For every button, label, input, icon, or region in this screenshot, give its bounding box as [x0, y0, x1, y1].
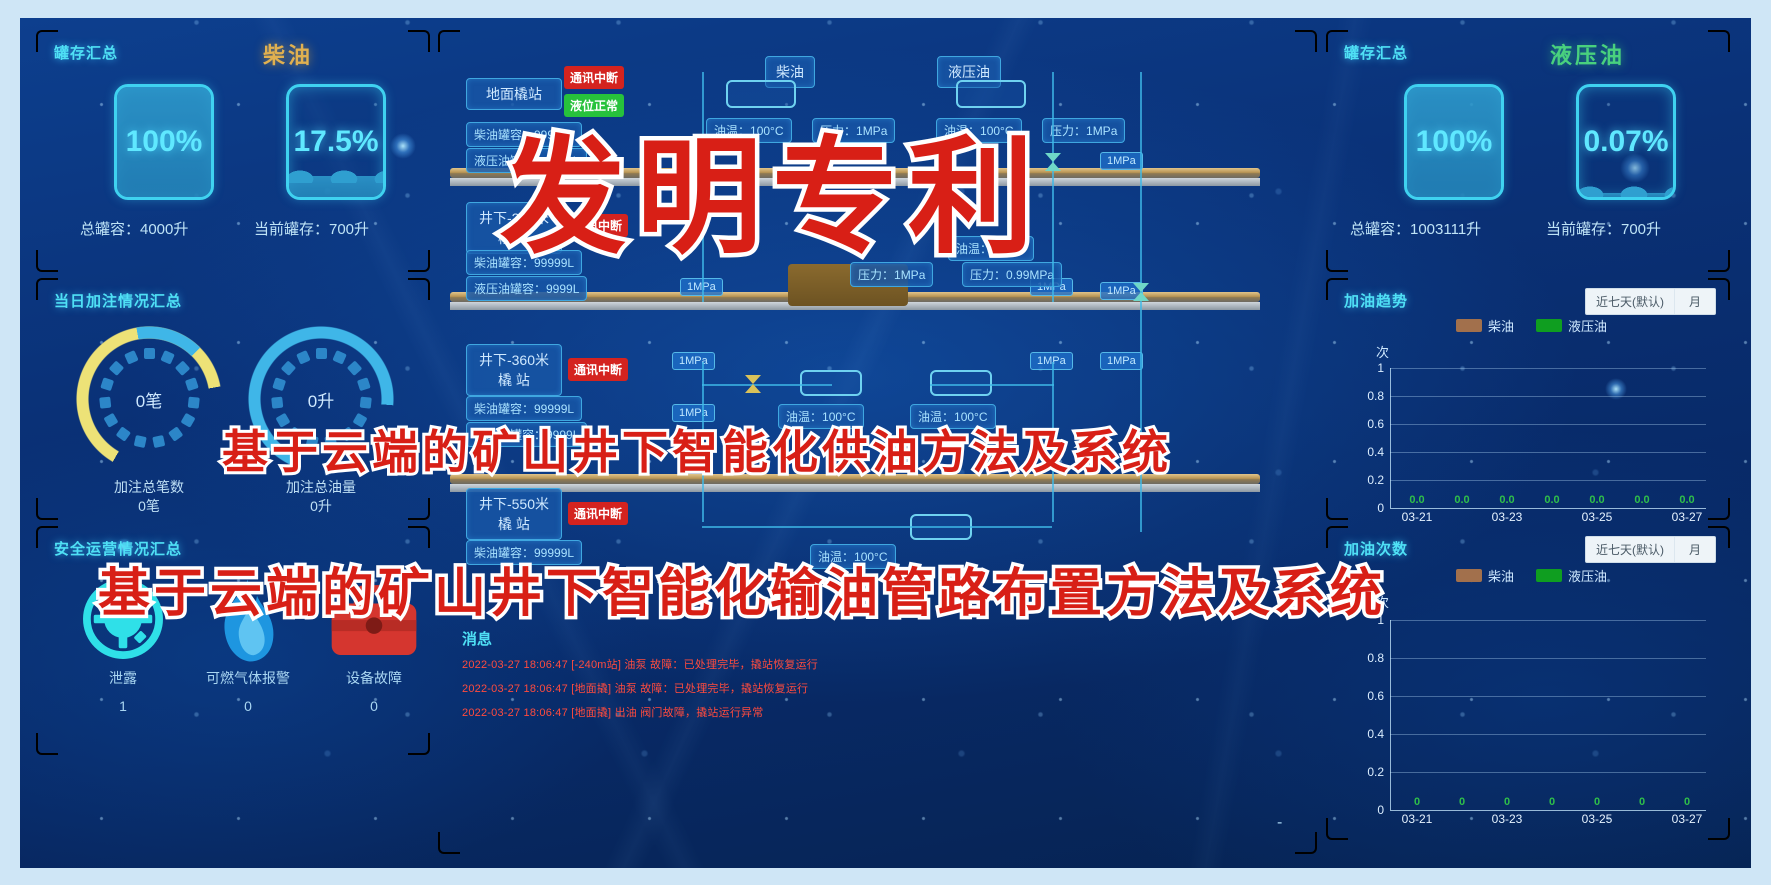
data-point-label: 0 — [1580, 796, 1614, 808]
panel-hydraulic-tank-summary: 罐存汇总 液压油 100% 0.07% 总罐容：1003111升 当前罐存：70… — [1328, 32, 1728, 270]
tank-wave — [1576, 181, 1676, 199]
data-point-label: 0 — [1400, 796, 1434, 808]
legend-label: 液压油 — [1568, 316, 1607, 335]
y-tick-label: 0.6 — [1350, 417, 1384, 431]
station-name-550m: 井下-550米 橇 站 — [466, 488, 562, 540]
valve-icon — [1044, 152, 1062, 177]
data-point-label: 0.0 — [1535, 494, 1569, 506]
chart-gridline — [1390, 396, 1706, 397]
x-tick-label: 03-25 — [1567, 510, 1627, 524]
panel-corner — [36, 250, 58, 272]
chart-gridline — [1390, 620, 1706, 621]
legend-swatch-diesel — [1456, 319, 1482, 332]
data-point-label: 0 — [1535, 796, 1569, 808]
safety-item-value: 1 — [63, 698, 183, 714]
meter-value: 1MPa — [1086, 124, 1117, 138]
data-point-label: 0.0 — [1670, 494, 1704, 506]
x-tick-label: 03-23 — [1477, 812, 1537, 826]
x-tick-label: 03-27 — [1657, 812, 1717, 826]
status-badge-comm: 通讯中断 — [568, 358, 628, 381]
gauge-caption-value: 0笔 — [69, 497, 229, 516]
x-tick-label: 03-23 — [1477, 510, 1537, 524]
panel-refuel-count-chart: 加油次数 近七天(默认) 月 柴油 液压油 次 1 0.8 — [1328, 528, 1728, 838]
legend-swatch-hydraulic — [1536, 569, 1562, 582]
tank-gauge-total: 100% — [1404, 84, 1504, 200]
data-point-label: 0.0 — [1400, 494, 1434, 506]
panel-corner — [1295, 30, 1317, 52]
panel-title: 罐存汇总 — [1344, 42, 1408, 63]
tank-total-caption: 总罐容：1003111升 — [1350, 218, 1481, 239]
panel-corner — [438, 832, 460, 854]
gauge-caption-title: 加注总笔数 — [69, 478, 229, 497]
tank-icon — [800, 370, 862, 396]
legend-label: 柴油 — [1488, 316, 1514, 335]
tank-current-caption: 当前罐存：700升 — [1546, 218, 1661, 239]
status-badge-comm: 通讯中断 — [568, 502, 628, 525]
oil-type-label: 液压油 — [1550, 38, 1625, 70]
pipe-line — [702, 526, 1052, 528]
data-point-label: 0 — [1670, 796, 1704, 808]
meter-label: 压力： — [1050, 124, 1086, 138]
watermark-title: 发明专利 — [500, 96, 1044, 278]
chart-gridline — [1390, 772, 1706, 773]
panel-corner — [1326, 250, 1348, 272]
data-point-label: 0 — [1445, 796, 1479, 808]
tank-gauge-total: 100% — [114, 84, 214, 200]
panel-title: 当日加注情况汇总 — [54, 290, 182, 311]
pipe-line — [1052, 72, 1054, 302]
chart-x-axis — [1390, 508, 1706, 509]
message-row: 2022-03-27 18:06:47 [地面撬] 出油 阀门故障，撬站运行异常 — [462, 704, 763, 720]
gauge-caption-count: 加注总笔数 0笔 — [69, 478, 229, 516]
panel-corner — [36, 733, 58, 755]
panel-corner — [1326, 498, 1348, 520]
chart-gridline — [1390, 696, 1706, 697]
dashboard: 罐存汇总 柴油 100% 17.5% 总罐容：4000升 当前罐存：700升 当… — [20, 18, 1751, 868]
panel-refuel-trend-chart: 加油趋势 近七天(默认) 月 柴油 液压油 次 1 0.8 — [1328, 280, 1728, 518]
chart-title: 加油趋势 — [1344, 290, 1408, 311]
x-tick-label: 03-21 — [1387, 812, 1447, 826]
message-row: 2022-03-27 18:06:47 [-240m站] 油泵 故障：已处理完毕… — [462, 656, 818, 672]
data-point-label: 0 — [1625, 796, 1659, 808]
legend-item-hydraulic[interactable]: 液压油 — [1536, 566, 1607, 585]
legend-swatch-diesel — [1456, 569, 1482, 582]
y-tick-label: 0.6 — [1350, 689, 1384, 703]
x-tick-label: 03-21 — [1387, 510, 1447, 524]
data-point-label: 0.0 — [1490, 494, 1524, 506]
legend-item-diesel[interactable]: 柴油 — [1456, 316, 1514, 335]
panel-corner — [408, 30, 430, 52]
panel-corner — [1708, 250, 1730, 272]
strata-pipe-shadow — [450, 484, 1260, 492]
pipe-line — [930, 384, 1054, 386]
tank-percent-value: 100% — [117, 125, 211, 159]
y-tick-label: 0.8 — [1350, 651, 1384, 665]
y-tick-label: 0.4 — [1350, 445, 1384, 459]
range-toggle[interactable]: 近七天(默认) 月 — [1585, 288, 1716, 315]
panel-diesel-tank-summary: 罐存汇总 柴油 100% 17.5% 总罐容：4000升 当前罐存：700升 — [38, 32, 428, 270]
tank-icon — [930, 370, 992, 396]
tank-percent-value: 100% — [1407, 125, 1501, 159]
meter-pressure: 压力：1MPa — [1042, 118, 1125, 143]
safety-item-label: 泄露 — [63, 668, 183, 688]
legend-item-hydraulic[interactable]: 液压油 — [1536, 316, 1607, 335]
data-point-label: 0.0 — [1625, 494, 1659, 506]
screenshot-root: 罐存汇总 柴油 100% 17.5% 总罐容：4000升 当前罐存：700升 当… — [0, 0, 1771, 885]
y-tick-label: 0.2 — [1350, 473, 1384, 487]
gauge-refuel-count: 0笔 — [74, 324, 224, 474]
panel-corner — [438, 30, 460, 52]
minimize-button[interactable]: - — [1277, 818, 1293, 834]
pressure-tag: 1MPa — [672, 352, 715, 370]
range-option-week[interactable]: 近七天(默认) — [1586, 289, 1675, 314]
chart-y-axis — [1390, 620, 1391, 810]
oil-type-label: 柴油 — [263, 38, 313, 70]
y-tick-label: 0.4 — [1350, 727, 1384, 741]
chart-gridline — [1390, 452, 1706, 453]
panel-corner — [408, 278, 430, 300]
pipe-line — [702, 384, 832, 386]
pressure-tag: 1MPa — [1100, 152, 1143, 170]
y-tick-label: 0.2 — [1350, 765, 1384, 779]
tank-gauge-current: 0.07% — [1576, 84, 1676, 200]
chart-gridline — [1390, 734, 1706, 735]
panel-corner — [408, 733, 430, 755]
gauge-caption-volume: 加注总油量 0升 — [241, 478, 401, 516]
safety-item-value: 0 — [188, 698, 308, 714]
panel-corner — [1295, 832, 1317, 854]
panel-corner — [1708, 30, 1730, 52]
watermark-line-2: 基于云端的矿山井下智能化输油管路布置方法及系统 — [98, 551, 1386, 626]
range-toggle[interactable]: 近七天(默认) 月 — [1585, 536, 1716, 563]
chart-y-axis — [1390, 368, 1391, 508]
tank-wave — [286, 165, 386, 183]
data-point-label: 0.0 — [1445, 494, 1479, 506]
range-option-month[interactable]: 月 — [1675, 289, 1715, 314]
message-row: 2022-03-27 18:06:47 [地面撬] 油泵 故障：已处理完毕，撬站… — [462, 680, 808, 696]
y-tick-label: 1 — [1350, 361, 1384, 375]
safety-item-label: 设备故障 — [314, 668, 434, 688]
legend-item-diesel[interactable]: 柴油 — [1456, 566, 1514, 585]
station-name-360m: 井下-360米 橇 站 — [466, 344, 562, 396]
pressure-tag: 1MPa — [1100, 352, 1143, 370]
messages-title: 消息 — [462, 628, 492, 649]
gauge-value: 0笔 — [74, 324, 224, 474]
legend-swatch-hydraulic — [1536, 319, 1562, 332]
y-axis-unit: 次 — [1376, 342, 1389, 361]
y-tick-label: 0.8 — [1350, 389, 1384, 403]
data-point-label: 0 — [1490, 796, 1524, 808]
panel-corner — [1326, 818, 1348, 840]
watermark-line-1: 基于云端的矿山井下智能化供油方法及系统 — [222, 416, 1172, 482]
y-tick-label: 0 — [1350, 803, 1384, 817]
panel-corner — [408, 250, 430, 272]
chart-gridline — [1390, 480, 1706, 481]
valve-icon — [744, 374, 762, 399]
chart-gridline — [1390, 368, 1706, 369]
x-tick-label: 03-25 — [1567, 812, 1627, 826]
valve-icon — [1132, 282, 1150, 307]
safety-item-label: 可燃气体报警 — [188, 668, 308, 688]
legend-label: 柴油 — [1488, 566, 1514, 585]
chart-gridline — [1390, 658, 1706, 659]
panel-corner — [408, 526, 430, 548]
x-tick-label: 03-27 — [1657, 510, 1717, 524]
chart-gridline — [1390, 424, 1706, 425]
data-point-label: 0.0 — [1580, 494, 1614, 506]
safety-item-value: 0 — [314, 698, 434, 714]
legend-label: 液压油 — [1568, 566, 1607, 585]
station-chip-hydraulic-cap: 液压油罐容：9999L — [466, 276, 587, 301]
range-option-week[interactable]: 近七天(默认) — [1586, 537, 1675, 562]
panel-title: 罐存汇总 — [54, 42, 118, 63]
status-badge-comm: 通讯中断 — [564, 66, 624, 89]
tank-percent-value: 17.5% — [289, 125, 383, 159]
range-option-month[interactable]: 月 — [1675, 537, 1715, 562]
y-tick-label: 0 — [1350, 501, 1384, 515]
panel-corner — [408, 498, 430, 520]
panel-corner — [36, 498, 58, 520]
tank-total-caption: 总罐容：4000升 — [80, 218, 188, 239]
chart-x-axis — [1390, 810, 1706, 811]
gauge-caption-value: 0升 — [241, 497, 401, 516]
panel-today-refuel: 当日加注情况汇总 0笔 — [38, 280, 428, 518]
tank-percent-value: 0.07% — [1579, 125, 1673, 159]
tank-gauge-current: 17.5% — [286, 84, 386, 200]
tank-current-caption: 当前罐存：700升 — [254, 218, 369, 239]
